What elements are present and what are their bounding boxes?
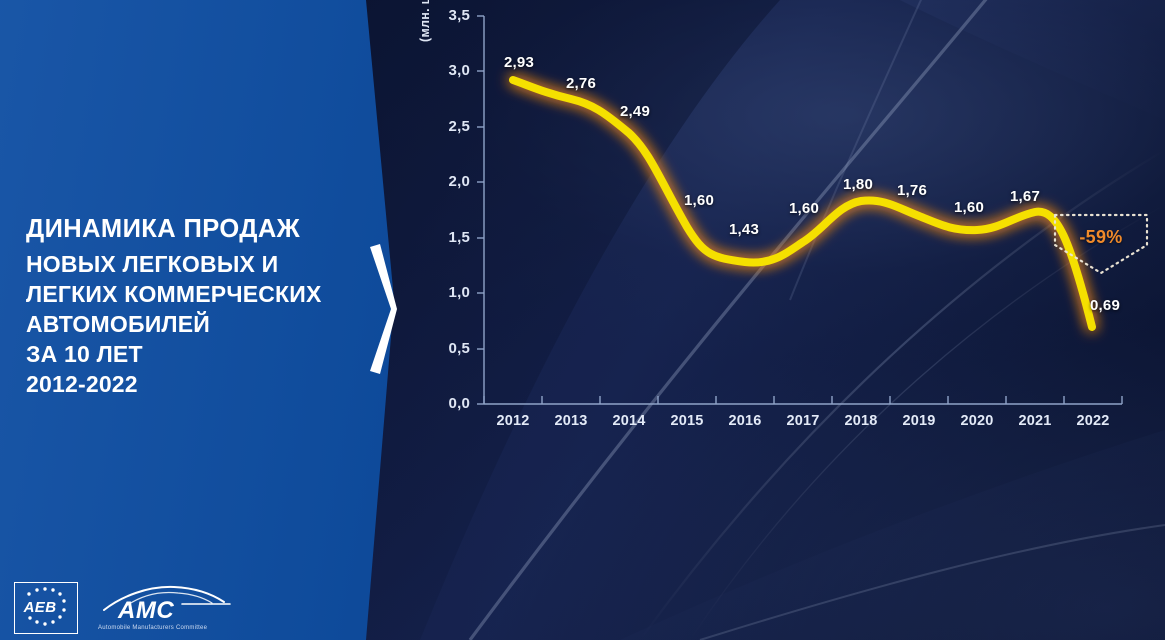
x-tick-label: 2022 xyxy=(1060,413,1126,429)
x-tick-label: 2021 xyxy=(1002,413,1068,429)
x-tick-label: 2016 xyxy=(712,413,778,429)
x-tick-label: 2012 xyxy=(480,413,546,429)
aeb-logo-text: AEB xyxy=(15,599,65,616)
data-label: 1,67 xyxy=(1010,188,1040,205)
x-tick-label: 2013 xyxy=(538,413,604,429)
amc-logo: AMC Automobile Manufacturers Committee xyxy=(96,580,232,634)
data-label: 1,43 xyxy=(729,221,759,238)
data-label: 1,80 xyxy=(843,176,873,193)
x-tick-label: 2017 xyxy=(770,413,836,429)
data-label: 1,60 xyxy=(684,192,714,209)
x-tick-label: 2014 xyxy=(596,413,662,429)
x-tick-label: 2019 xyxy=(886,413,952,429)
amc-logo-text: AMC xyxy=(118,597,174,625)
data-label: 2,76 xyxy=(566,75,596,92)
x-tick-label: 2020 xyxy=(944,413,1010,429)
x-tick-label: 2015 xyxy=(654,413,720,429)
amc-logo-subtitle: Automobile Manufacturers Committee xyxy=(98,625,207,631)
data-label: 1,60 xyxy=(954,199,984,216)
series-line xyxy=(0,0,1165,640)
x-tick-label: 2018 xyxy=(828,413,894,429)
badge-label: -59% xyxy=(1052,227,1150,248)
data-label: 1,60 xyxy=(789,200,819,217)
aeb-logo: AEB xyxy=(14,582,78,634)
data-label: 0,69 xyxy=(1090,297,1120,314)
data-label: 2,93 xyxy=(504,54,534,71)
data-label: 1,76 xyxy=(897,182,927,199)
sales-line-chart: (млн. шт.) xyxy=(0,0,1165,640)
status-badge: -59% xyxy=(1052,212,1150,276)
slide-root: ДИНАМИКА ПРОДАЖ НОВЫХ ЛЕГКОВЫХ И ЛЕГКИХ … xyxy=(0,0,1165,640)
data-label: 2,49 xyxy=(620,103,650,120)
